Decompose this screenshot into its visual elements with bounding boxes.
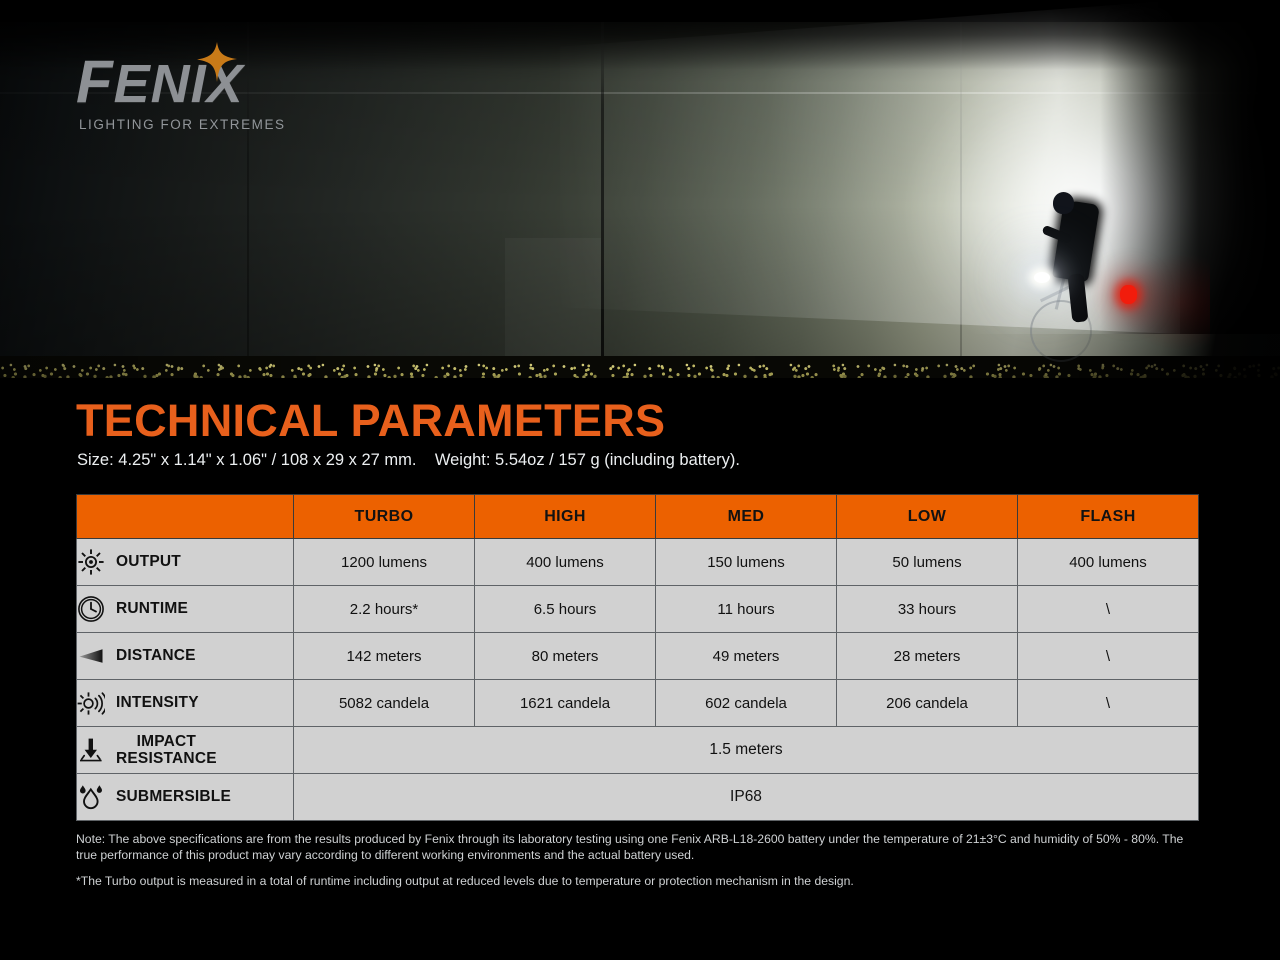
table-row-runtime: RUNTIME 2.2 hours* 6.5 hours 11 hours 33… bbox=[77, 586, 1199, 633]
page-title: TECHNICAL PARAMETERS bbox=[76, 398, 665, 444]
cell-distance-turbo: 142 meters bbox=[294, 633, 475, 680]
cell-output-turbo: 1200 lumens bbox=[294, 539, 475, 586]
cell-distance-high: 80 meters bbox=[475, 633, 656, 680]
cell-output-high: 400 lumens bbox=[475, 539, 656, 586]
taillight-icon bbox=[1120, 285, 1137, 304]
cell-runtime-flash: \ bbox=[1018, 586, 1199, 633]
header-cell-high: HIGH bbox=[475, 495, 656, 539]
row-label-line1: IMPACT bbox=[137, 733, 196, 750]
cyclist-silhouette bbox=[1020, 192, 1210, 367]
sun-output-icon bbox=[77, 548, 105, 576]
table-row-impact-resistance: IMPACTRESISTANCE 1.5 meters bbox=[77, 727, 1199, 774]
logo-wordmark: FENIX bbox=[76, 52, 306, 112]
row-label-text: RUNTIME bbox=[116, 600, 188, 617]
logo-tagline: LIGHTING FOR EXTREMES bbox=[79, 117, 306, 132]
table-row-distance: DISTANCE 142 meters 80 meters 49 meters … bbox=[77, 633, 1199, 680]
row-label-text: OUTPUT bbox=[116, 553, 181, 570]
cell-intensity-low: 206 candela bbox=[837, 680, 1018, 727]
cell-output-med: 150 lumens bbox=[656, 539, 837, 586]
clock-icon bbox=[77, 595, 105, 623]
cell-impact-resistance-value: 1.5 meters bbox=[294, 727, 1199, 774]
page-root: FENIX LIGHTING FOR EXTREMES TECHNICAL PA… bbox=[0, 0, 1280, 960]
header-cell-med: MED bbox=[656, 495, 837, 539]
fenix-logo: FENIX LIGHTING FOR EXTREMES bbox=[76, 52, 306, 136]
water-drop-icon bbox=[77, 783, 105, 811]
cell-runtime-high: 6.5 hours bbox=[475, 586, 656, 633]
impact-arrow-icon bbox=[77, 736, 105, 764]
footnote-specifications: Note: The above specifications are from … bbox=[76, 831, 1200, 863]
cell-intensity-high: 1621 candela bbox=[475, 680, 656, 727]
row-label-submersible: SUBMERSIBLE bbox=[77, 774, 294, 821]
cell-submersible-value: IP68 bbox=[294, 774, 1199, 821]
star-flame-icon bbox=[193, 42, 237, 82]
row-label-line2: RESISTANCE bbox=[116, 750, 217, 767]
cell-distance-low: 28 meters bbox=[837, 633, 1018, 680]
cell-output-flash: 400 lumens bbox=[1018, 539, 1199, 586]
cell-intensity-flash: \ bbox=[1018, 680, 1199, 727]
cell-runtime-low: 33 hours bbox=[837, 586, 1018, 633]
cell-distance-flash: \ bbox=[1018, 633, 1199, 680]
cell-distance-med: 49 meters bbox=[656, 633, 837, 680]
cell-output-low: 50 lumens bbox=[837, 539, 1018, 586]
row-label-text: INTENSITY bbox=[116, 694, 199, 711]
footnotes: Note: The above specifications are from … bbox=[76, 831, 1200, 889]
row-label-text: SUBMERSIBLE bbox=[116, 788, 231, 805]
beam-triangle-icon bbox=[77, 642, 105, 670]
footnote-turbo-output: *The Turbo output is measured in a total… bbox=[76, 873, 1200, 889]
row-label-text: IMPACTRESISTANCE bbox=[116, 733, 217, 768]
cell-intensity-turbo: 5082 candela bbox=[294, 680, 475, 727]
cell-runtime-med: 11 hours bbox=[656, 586, 837, 633]
logo-letter-f: F bbox=[76, 48, 114, 115]
intensity-beam-icon bbox=[77, 689, 105, 717]
row-label-distance: DISTANCE bbox=[77, 633, 294, 680]
hero-bottom-fade bbox=[0, 378, 1280, 392]
cell-intensity-med: 602 candela bbox=[656, 680, 837, 727]
headlight-icon bbox=[1034, 272, 1050, 283]
table-header-row: TURBO HIGH MED LOW FLASH bbox=[77, 495, 1199, 539]
row-label-runtime: RUNTIME bbox=[77, 586, 294, 633]
table-row-submersible: SUBMERSIBLE IP68 bbox=[77, 774, 1199, 821]
header-cell-flash: FLASH bbox=[1018, 495, 1199, 539]
table-row-output: OUTPUT 1200 lumens 400 lumens 150 lumens… bbox=[77, 539, 1199, 586]
row-label-output: OUTPUT bbox=[77, 539, 294, 586]
row-label-text: DISTANCE bbox=[116, 647, 196, 664]
table-row-intensity: INTENSITY 5082 candela 1621 candela 602 … bbox=[77, 680, 1199, 727]
header-cell-blank bbox=[77, 495, 294, 539]
size-weight-line: Size: 4.25" x 1.14" x 1.06" / 108 x 29 x… bbox=[77, 451, 740, 470]
header-cell-low: LOW bbox=[837, 495, 1018, 539]
header-cell-turbo: TURBO bbox=[294, 495, 475, 539]
row-label-intensity: INTENSITY bbox=[77, 680, 294, 727]
row-label-impact-resistance: IMPACTRESISTANCE bbox=[77, 727, 294, 774]
technical-parameters-table: TURBO HIGH MED LOW FLASH bbox=[76, 494, 1199, 821]
cell-runtime-turbo: 2.2 hours* bbox=[294, 586, 475, 633]
